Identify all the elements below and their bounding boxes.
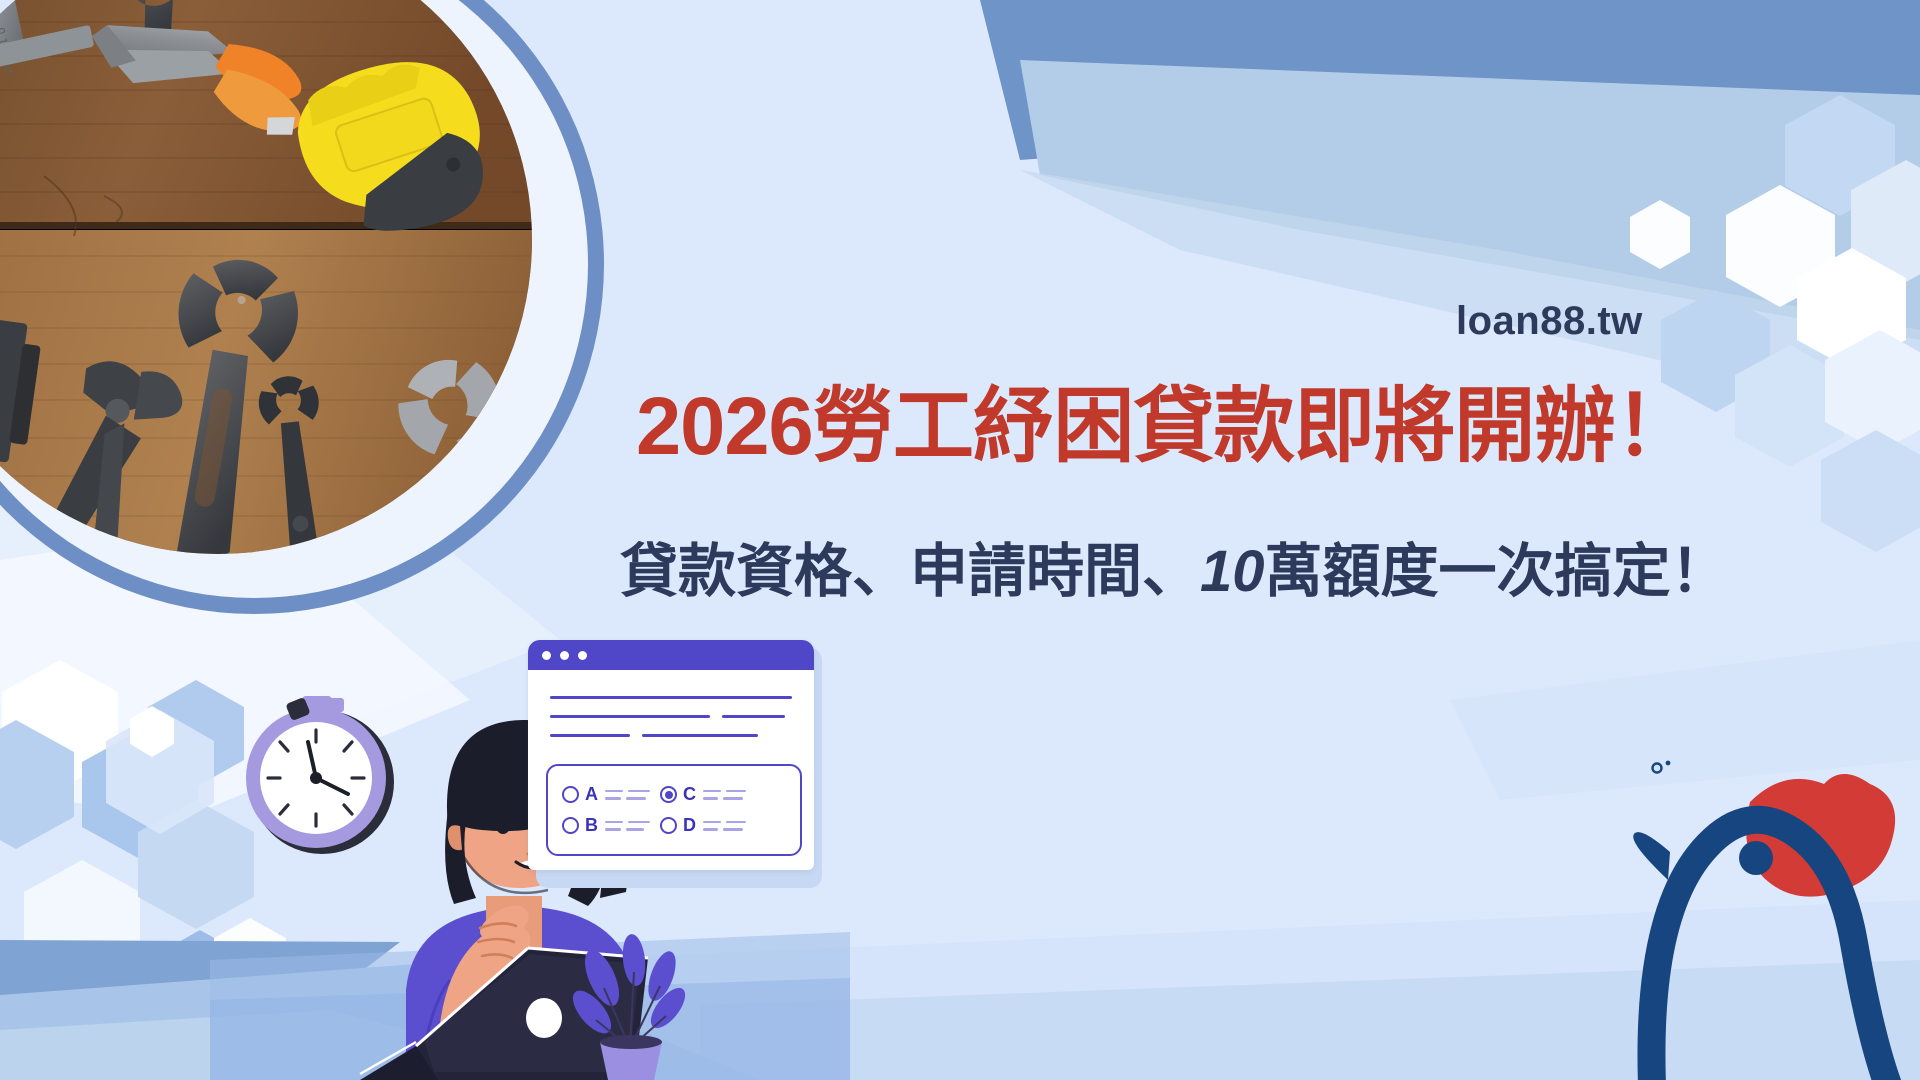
stopwatch-icon <box>246 696 394 854</box>
quiz-option-dashes <box>605 790 650 800</box>
quiz-option-dashes <box>703 821 746 831</box>
sparkle-dot <box>1653 764 1662 773</box>
window-dot-minimize-icon[interactable] <box>560 651 569 660</box>
text-line-row <box>550 734 792 737</box>
quiz-option-c[interactable]: C <box>660 784 746 805</box>
browser-titlebar <box>528 640 814 670</box>
radio-a-icon[interactable] <box>562 786 579 803</box>
text-line <box>722 715 785 718</box>
quiz-option-dashes <box>703 790 746 800</box>
quiz-option-label: A <box>585 784 599 805</box>
text-line <box>550 715 710 718</box>
window-dot-maximize-icon[interactable] <box>578 651 587 660</box>
subtitle-prefix: 貸款資格、申請時間、 <box>620 539 1200 604</box>
quiz-option-dashes <box>605 821 650 831</box>
quiz-options-panel: A C B <box>546 764 802 856</box>
radio-b-icon[interactable] <box>562 817 579 834</box>
page-title: 2026勞工紓困貸款即將開辦！ <box>636 386 1695 468</box>
quiz-option-a[interactable]: A <box>562 784 650 805</box>
text-line <box>550 734 630 737</box>
window-dot-close-icon[interactable] <box>542 651 551 660</box>
penguin-svg <box>1600 740 1920 1080</box>
site-tag: loan88.tw <box>1456 299 1643 344</box>
penguin-beak <box>1633 832 1670 880</box>
page-subtitle: 貸款資格、申請時間、10萬額度一次搞定！ <box>620 543 1729 601</box>
subtitle-amount: 10 <box>1200 539 1265 604</box>
radio-c-icon[interactable] <box>660 786 677 803</box>
subtitle-suffix: 萬額度一次搞定！ <box>1265 539 1729 604</box>
text-line-row <box>550 715 792 718</box>
penguin-eye <box>1739 841 1773 875</box>
quiz-option-b[interactable]: B <box>562 815 650 836</box>
text-line <box>550 696 792 699</box>
sparkle-dot <box>1666 761 1671 766</box>
promo-banner: 0.10 mm <box>0 0 1920 1080</box>
browser-text-lines <box>528 670 814 737</box>
quiz-option-label: C <box>683 784 697 805</box>
quiz-row-top: A C <box>562 784 786 805</box>
quiz-option-label: B <box>585 815 599 836</box>
quiz-row-bottom: B D <box>562 815 786 836</box>
radio-d-icon[interactable] <box>660 817 677 834</box>
quiz-option-label: D <box>683 815 697 836</box>
text-line <box>642 734 758 737</box>
penguin-mascot <box>1600 740 1920 1080</box>
quiz-option-d[interactable]: D <box>660 815 746 836</box>
